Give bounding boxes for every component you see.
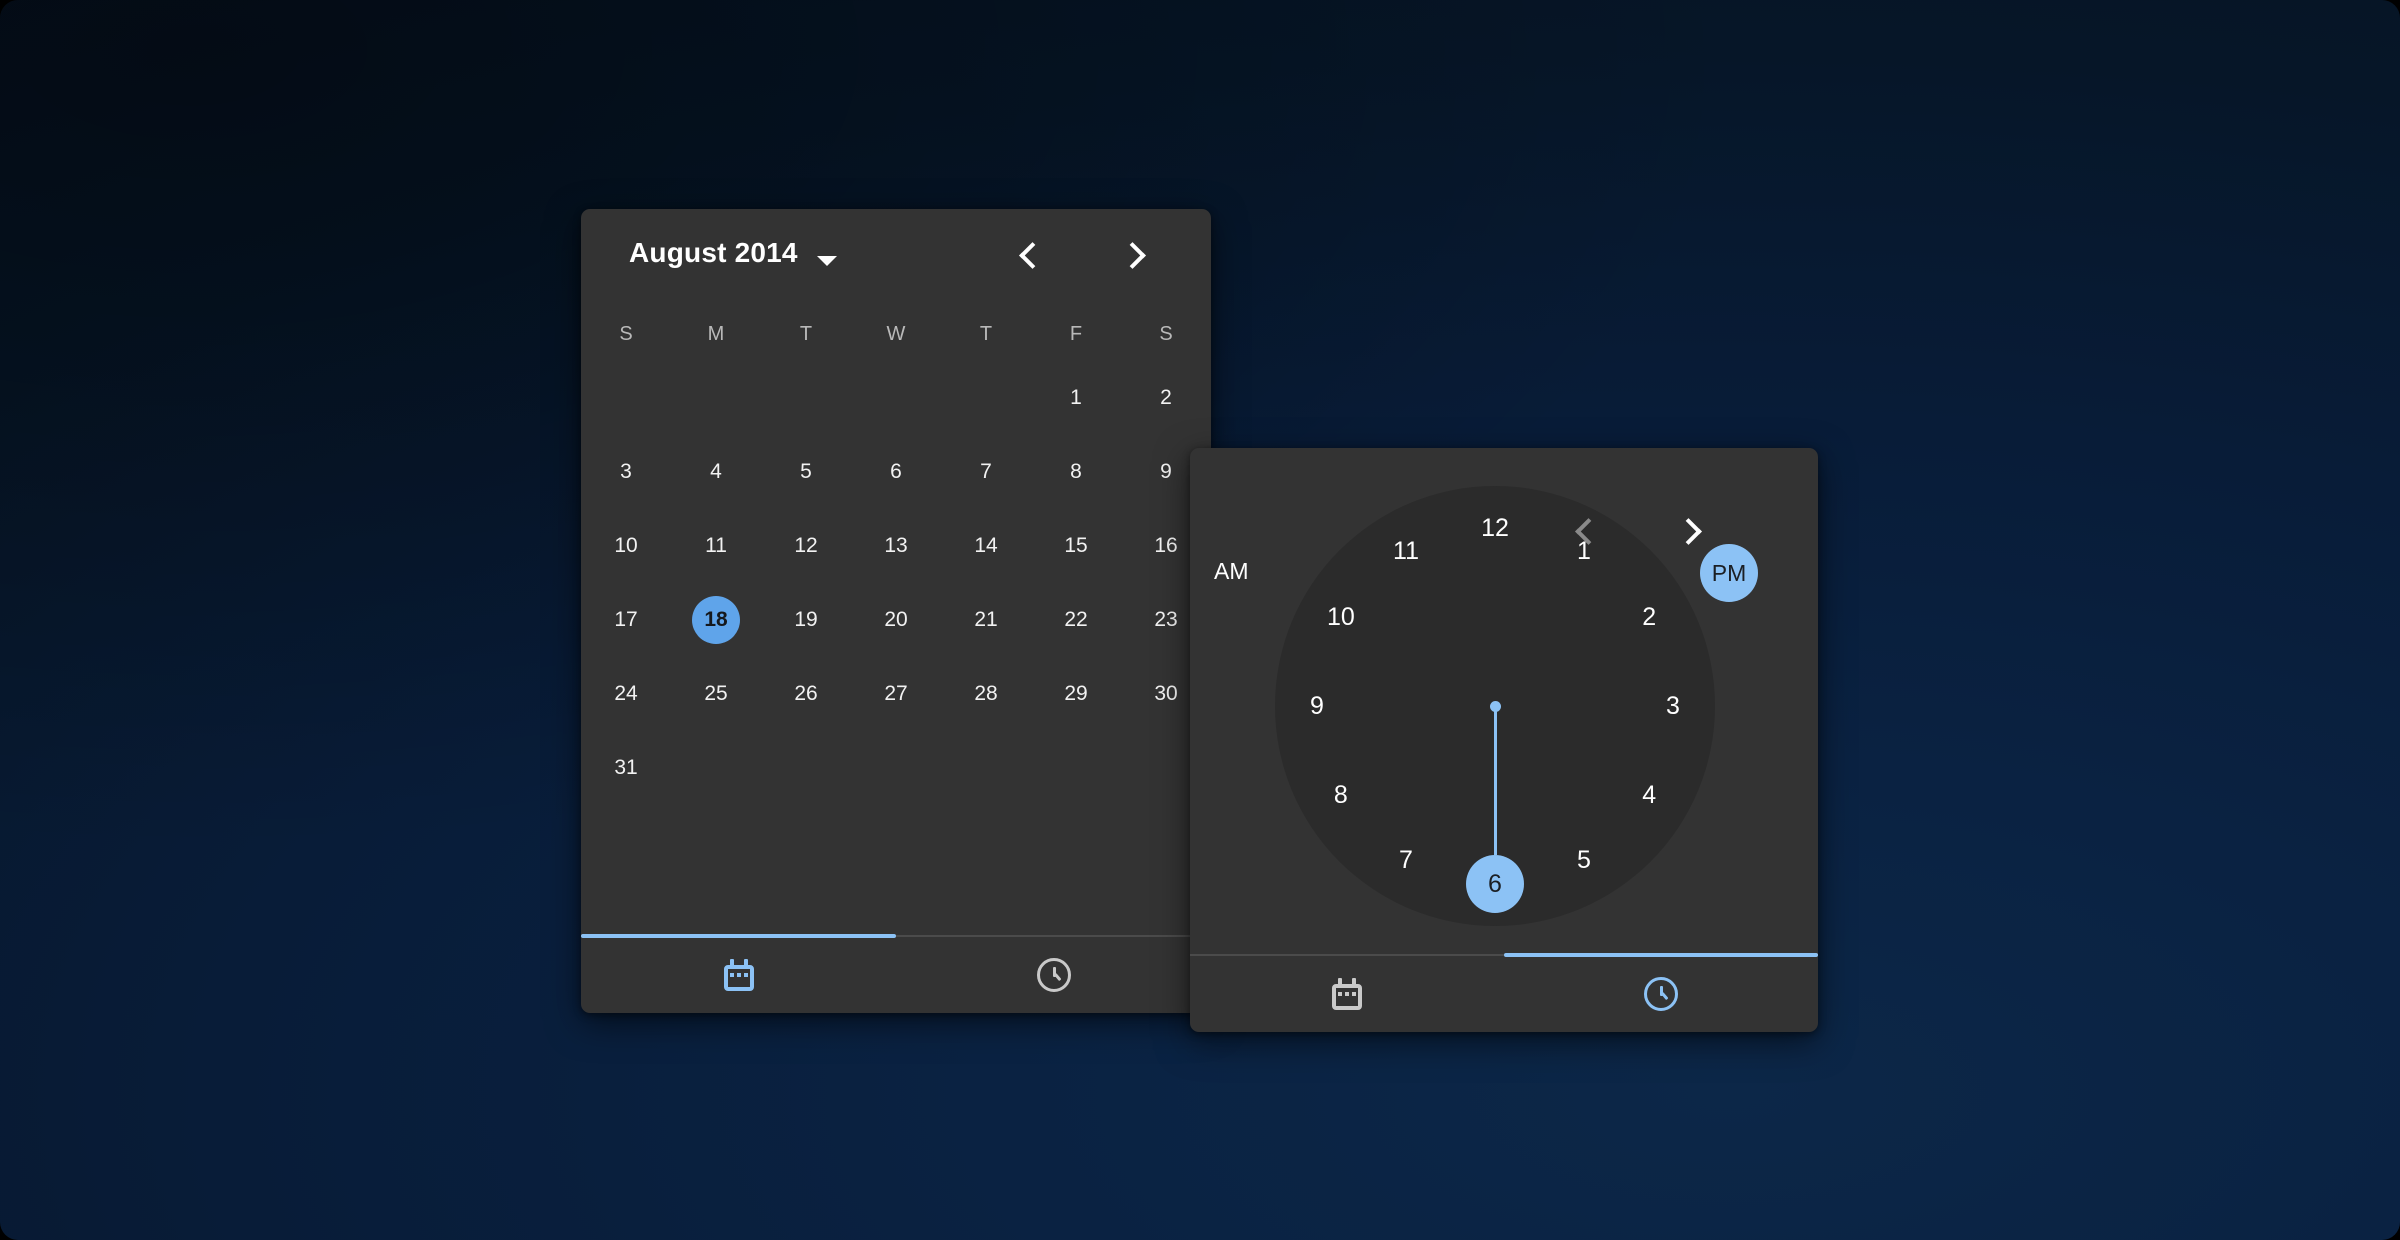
chevron-right-icon bbox=[1124, 239, 1142, 271]
hour-number[interactable]: 4 bbox=[1620, 766, 1678, 824]
day-cell[interactable]: 3 bbox=[581, 435, 671, 509]
chevron-left-icon bbox=[1578, 515, 1596, 547]
tab-date[interactable] bbox=[1190, 956, 1504, 1032]
time-picker-tabbar bbox=[1190, 954, 1818, 1032]
date-picker-header: August 2014 bbox=[581, 209, 1211, 313]
day-number: 15 bbox=[1052, 522, 1100, 570]
weekday-label: S bbox=[581, 311, 671, 357]
time-picker-panel: 121234567891011 AM PM bbox=[1190, 448, 1818, 1032]
calendar-icon bbox=[724, 959, 754, 991]
selected-hour[interactable]: 6 bbox=[1466, 855, 1524, 913]
date-picker-panel: August 2014 SMTWTFS 12345678910111213141… bbox=[581, 209, 1211, 1013]
clock-hand bbox=[1494, 706, 1497, 855]
day-number: 23 bbox=[1142, 596, 1190, 644]
day-number: 26 bbox=[782, 670, 830, 718]
day-number: 13 bbox=[872, 522, 920, 570]
weekday-label: T bbox=[761, 311, 851, 357]
day-cell[interactable]: 12 bbox=[761, 509, 851, 583]
day-number: 17 bbox=[602, 596, 650, 644]
day-cell[interactable]: 6 bbox=[851, 435, 941, 509]
day-cell[interactable]: 11 bbox=[671, 509, 761, 583]
day-number: 30 bbox=[1142, 670, 1190, 718]
day-cell[interactable]: 5 bbox=[761, 435, 851, 509]
day-cell[interactable]: 13 bbox=[851, 509, 941, 583]
prev-month-button[interactable] bbox=[1003, 227, 1059, 283]
day-number: 28 bbox=[962, 670, 1010, 718]
day-number: 4 bbox=[692, 448, 740, 496]
day-cell-empty bbox=[671, 361, 761, 435]
day-cell[interactable]: 27 bbox=[851, 657, 941, 731]
clock-icon bbox=[1644, 977, 1678, 1011]
selected-day: 18 bbox=[692, 596, 740, 644]
prev-time-button[interactable] bbox=[1559, 503, 1615, 559]
clock-center-dot bbox=[1490, 701, 1501, 712]
day-cell[interactable]: 21 bbox=[941, 583, 1031, 657]
day-number: 11 bbox=[692, 522, 740, 570]
day-number: 29 bbox=[1052, 670, 1100, 718]
day-number: 2 bbox=[1142, 374, 1190, 422]
weekday-label: W bbox=[851, 311, 941, 357]
hour-number[interactable]: 12 bbox=[1466, 499, 1524, 557]
weekday-label: S bbox=[1121, 311, 1211, 357]
caret-down-icon[interactable] bbox=[817, 256, 837, 266]
calendar-icon bbox=[1332, 978, 1362, 1010]
day-cell[interactable]: 22 bbox=[1031, 583, 1121, 657]
day-cell[interactable]: 20 bbox=[851, 583, 941, 657]
day-number: 16 bbox=[1142, 522, 1190, 570]
clock-icon bbox=[1037, 958, 1071, 992]
date-picker-tabbar bbox=[581, 935, 1211, 1013]
hour-number[interactable]: 10 bbox=[1312, 588, 1370, 646]
day-cell[interactable]: 29 bbox=[1031, 657, 1121, 731]
tab-time[interactable] bbox=[1504, 956, 1818, 1032]
day-number: 9 bbox=[1142, 448, 1190, 496]
day-cell[interactable]: 24 bbox=[581, 657, 671, 731]
day-number: 5 bbox=[782, 448, 830, 496]
day-number: 12 bbox=[782, 522, 830, 570]
day-number: 27 bbox=[872, 670, 920, 718]
day-grid: 1234567891011121314151617181920212223242… bbox=[581, 361, 1211, 805]
hour-number[interactable]: 5 bbox=[1555, 831, 1613, 889]
pm-button[interactable]: PM bbox=[1700, 544, 1758, 602]
time-picker-body: 121234567891011 AM PM bbox=[1190, 448, 1818, 956]
day-number: 3 bbox=[602, 448, 650, 496]
weekday-label: T bbox=[941, 311, 1031, 357]
tab-time[interactable] bbox=[896, 937, 1211, 1013]
day-number: 25 bbox=[692, 670, 740, 718]
day-number: 8 bbox=[1052, 448, 1100, 496]
tab-date[interactable] bbox=[581, 937, 896, 1013]
day-number: 31 bbox=[602, 744, 650, 792]
day-number: 6 bbox=[872, 448, 920, 496]
day-cell-empty bbox=[941, 361, 1031, 435]
day-cell[interactable]: 2 bbox=[1121, 361, 1211, 435]
day-cell[interactable]: 18 bbox=[671, 583, 761, 657]
month-year-label[interactable]: August 2014 bbox=[629, 237, 798, 269]
day-cell-empty bbox=[761, 361, 851, 435]
weekday-header-row: SMTWTFS bbox=[581, 311, 1211, 357]
day-cell[interactable]: 26 bbox=[761, 657, 851, 731]
clock-dial[interactable]: 121234567891011 bbox=[1275, 486, 1715, 926]
day-number: 20 bbox=[872, 596, 920, 644]
day-number: 7 bbox=[962, 448, 1010, 496]
hour-number[interactable]: 9 bbox=[1288, 677, 1346, 735]
day-number: 21 bbox=[962, 596, 1010, 644]
day-number: 14 bbox=[962, 522, 1010, 570]
day-number: 24 bbox=[602, 670, 650, 718]
day-cell-empty bbox=[851, 361, 941, 435]
next-month-button[interactable] bbox=[1105, 227, 1161, 283]
chevron-left-icon bbox=[1022, 239, 1040, 271]
weekday-label: F bbox=[1031, 311, 1121, 357]
day-cell[interactable]: 17 bbox=[581, 583, 671, 657]
day-cell[interactable]: 25 bbox=[671, 657, 761, 731]
day-cell[interactable]: 7 bbox=[941, 435, 1031, 509]
am-button[interactable]: AM bbox=[1214, 551, 1286, 591]
hour-number[interactable]: 7 bbox=[1377, 831, 1435, 889]
weekday-label: M bbox=[671, 311, 761, 357]
day-cell[interactable]: 28 bbox=[941, 657, 1031, 731]
chevron-right-icon bbox=[1680, 515, 1698, 547]
day-cell[interactable]: 14 bbox=[941, 509, 1031, 583]
day-cell[interactable]: 10 bbox=[581, 509, 671, 583]
day-cell[interactable]: 4 bbox=[671, 435, 761, 509]
day-number: 19 bbox=[782, 596, 830, 644]
desktop-backdrop: August 2014 SMTWTFS 12345678910111213141… bbox=[0, 0, 2400, 1240]
day-number: 10 bbox=[602, 522, 650, 570]
day-cell[interactable]: 31 bbox=[581, 731, 671, 805]
hour-number[interactable]: 11 bbox=[1377, 523, 1435, 581]
hour-number[interactable]: 2 bbox=[1620, 588, 1678, 646]
hour-number[interactable]: 8 bbox=[1312, 766, 1370, 824]
day-number: 1 bbox=[1052, 374, 1100, 422]
day-cell[interactable]: 19 bbox=[761, 583, 851, 657]
day-cell[interactable]: 8 bbox=[1031, 435, 1121, 509]
hour-number[interactable]: 3 bbox=[1644, 677, 1702, 735]
day-number: 22 bbox=[1052, 596, 1100, 644]
day-cell[interactable]: 15 bbox=[1031, 509, 1121, 583]
day-cell[interactable]: 1 bbox=[1031, 361, 1121, 435]
day-cell-empty bbox=[581, 361, 671, 435]
